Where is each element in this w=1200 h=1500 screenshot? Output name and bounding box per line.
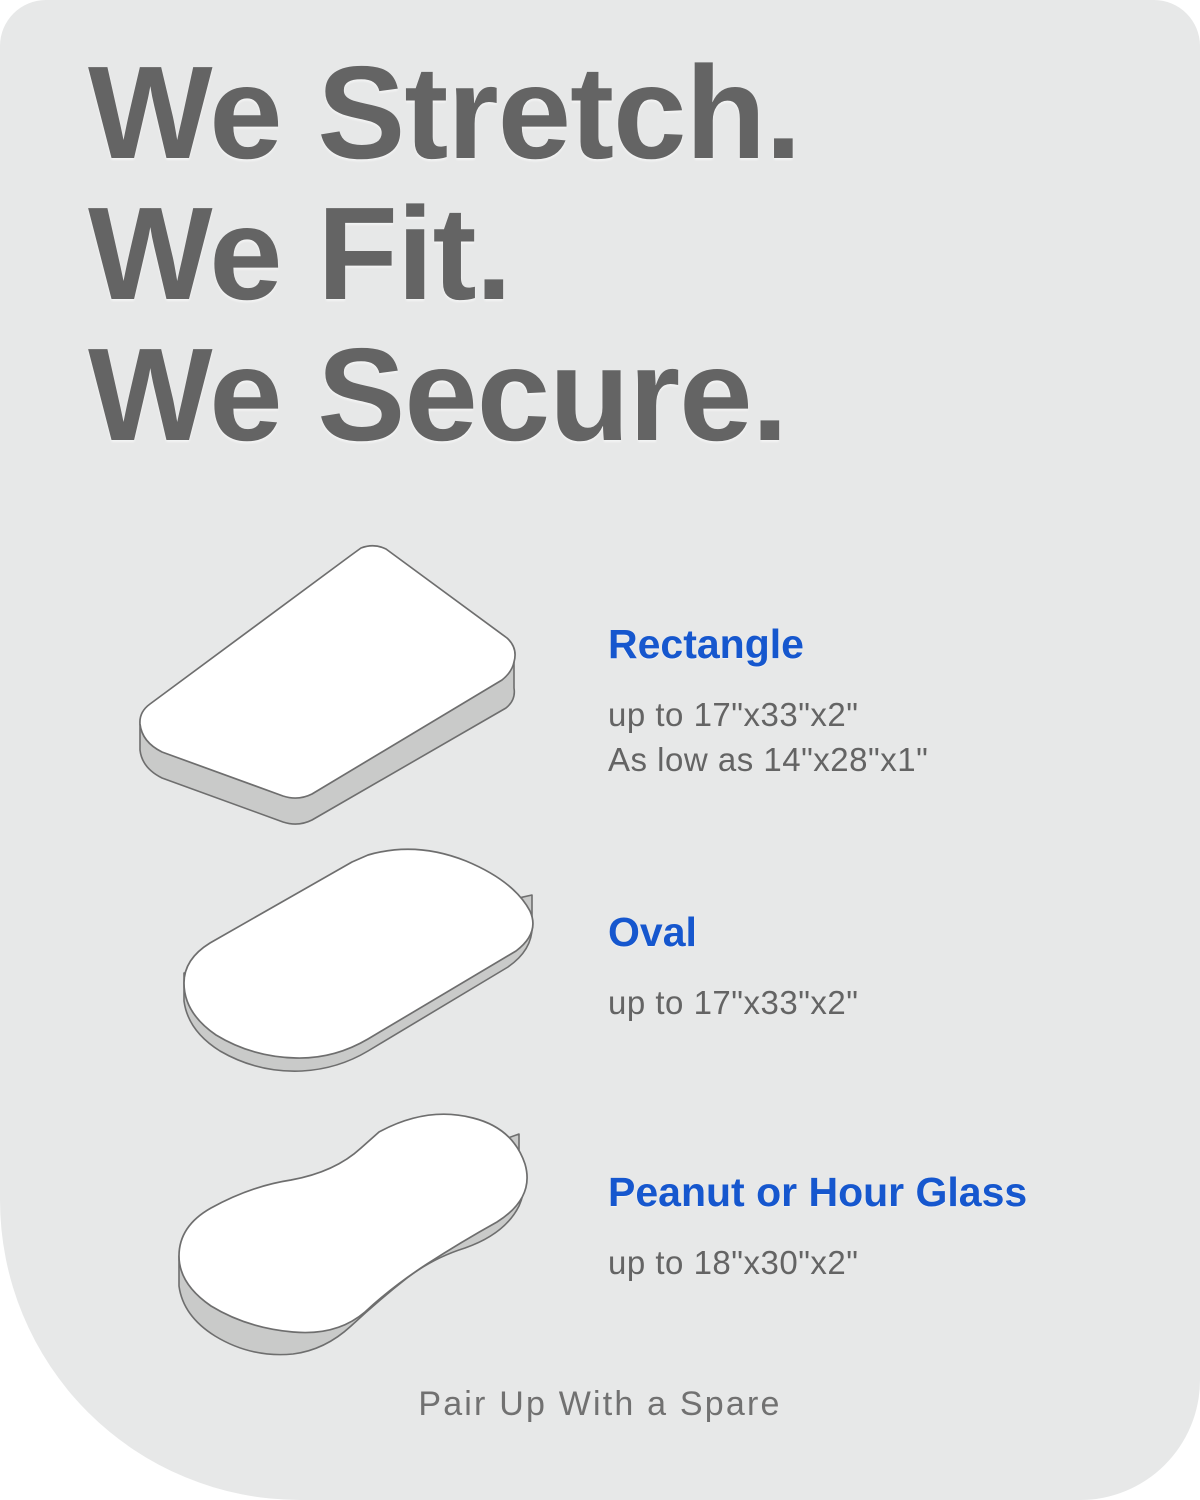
peanut-pad-svg: [165, 1110, 565, 1370]
shape-spec-peanut-0: up to 18"x30"x2": [608, 1240, 1027, 1285]
shape-spec-oval-0: up to 17"x33"x2": [608, 980, 858, 1025]
rectangle-pad-top-face: [140, 546, 515, 798]
oval-pad-illustration: [178, 845, 548, 1095]
shape-title-oval: Oval: [608, 908, 858, 956]
footer-block: Pair Up With a Spare: [0, 1385, 1200, 1424]
shape-title-rectangle: Rectangle: [608, 620, 928, 668]
product-infographic-poster: We Stretch. We Fit. We Secure. Rectangle…: [0, 0, 1200, 1500]
rectangle-pad-illustration: [118, 540, 558, 830]
oval-text-column: Oval up to 17"x33"x2": [608, 908, 858, 1025]
rectangle-pad-svg: [118, 540, 558, 830]
oval-pad-svg: [178, 845, 548, 1095]
headline-line-3: We Secure.: [88, 324, 1088, 465]
oval-pad-top-face: [184, 849, 533, 1058]
peanut-text-column: Peanut or Hour Glass up to 18"x30"x2": [608, 1168, 1027, 1285]
headline-block: We Stretch. We Fit. We Secure.: [88, 42, 1088, 465]
headline-line-1: We Stretch.: [88, 42, 1088, 183]
oval-spec-block: up to 17"x33"x2": [608, 980, 858, 1025]
rectangle-text-column: Rectangle up to 17"x33"x2" As low as 14"…: [608, 620, 928, 782]
shape-title-peanut: Peanut or Hour Glass: [608, 1168, 1027, 1216]
shape-spec-rectangle-1: As low as 14"x28"x1": [608, 737, 928, 782]
peanut-spec-block: up to 18"x30"x2": [608, 1240, 1027, 1285]
rectangle-spec-block: up to 17"x33"x2" As low as 14"x28"x1": [608, 692, 928, 782]
shape-spec-rectangle-0: up to 17"x33"x2": [608, 692, 928, 737]
peanut-pad-illustration: [165, 1110, 565, 1370]
footer-tagline: Pair Up With a Spare: [0, 1385, 1200, 1424]
peanut-pad-top-face: [179, 1114, 527, 1332]
headline-line-2: We Fit.: [88, 183, 1088, 324]
